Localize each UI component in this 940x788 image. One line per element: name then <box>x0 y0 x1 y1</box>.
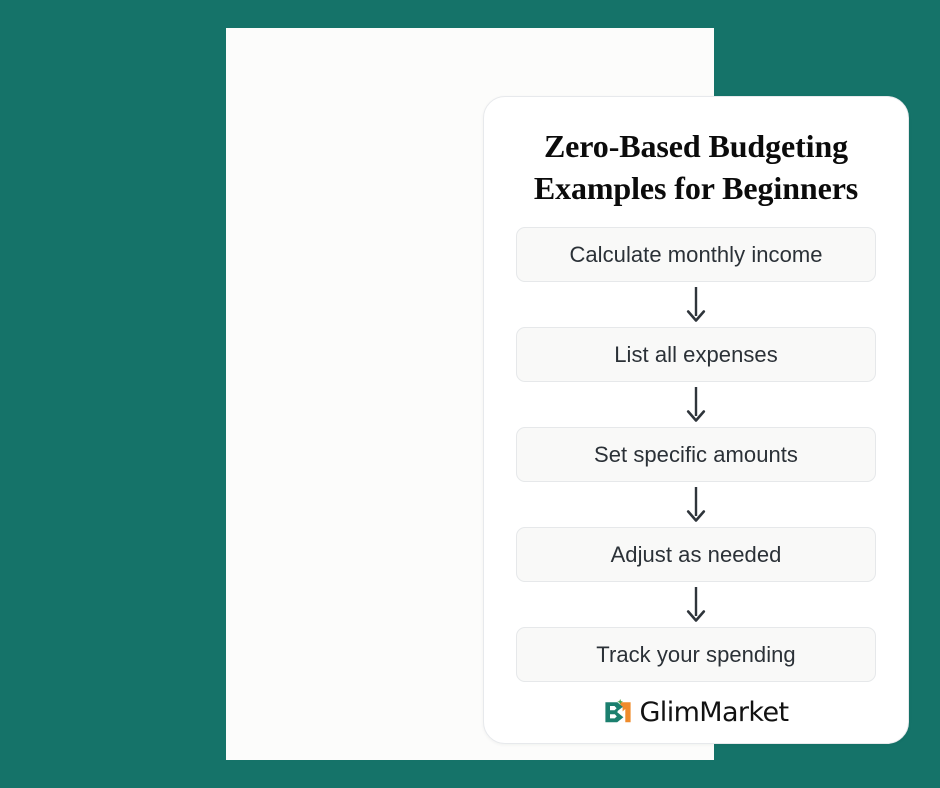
arrow-down-icon <box>681 282 711 327</box>
brand-name: GlimMarket <box>639 699 788 726</box>
flow-step-5[interactable]: Track your spending <box>516 627 876 682</box>
arrow-down-icon <box>681 582 711 627</box>
glimmarket-logo-icon <box>603 698 633 726</box>
flow-step-label: List all expenses <box>614 342 778 368</box>
flow-step-2[interactable]: List all expenses <box>516 327 876 382</box>
infographic-card: Zero-Based Budgeting Examples for Beginn… <box>483 96 909 744</box>
page-title-line-1: Zero-Based Budgeting <box>544 128 848 164</box>
flow-step-label: Adjust as needed <box>611 542 782 568</box>
page-title: Zero-Based Budgeting Examples for Beginn… <box>504 125 888 209</box>
flow-step-label: Track your spending <box>596 642 795 668</box>
flow-step-label: Calculate monthly income <box>569 242 822 268</box>
flow-step-4[interactable]: Adjust as needed <box>516 527 876 582</box>
flow-step-3[interactable]: Set specific amounts <box>516 427 876 482</box>
arrow-down-icon <box>681 482 711 527</box>
flow-step-1[interactable]: Calculate monthly income <box>516 227 876 282</box>
page-title-line-2: Examples for Beginners <box>534 170 858 206</box>
flow-diagram: Calculate monthly income List all expens… <box>516 227 876 682</box>
flow-step-label: Set specific amounts <box>594 442 798 468</box>
poster-panel: Zero-Based Budgeting Examples for Beginn… <box>226 28 714 760</box>
arrow-down-icon <box>681 382 711 427</box>
brand-logo[interactable]: GlimMarket <box>603 698 788 726</box>
